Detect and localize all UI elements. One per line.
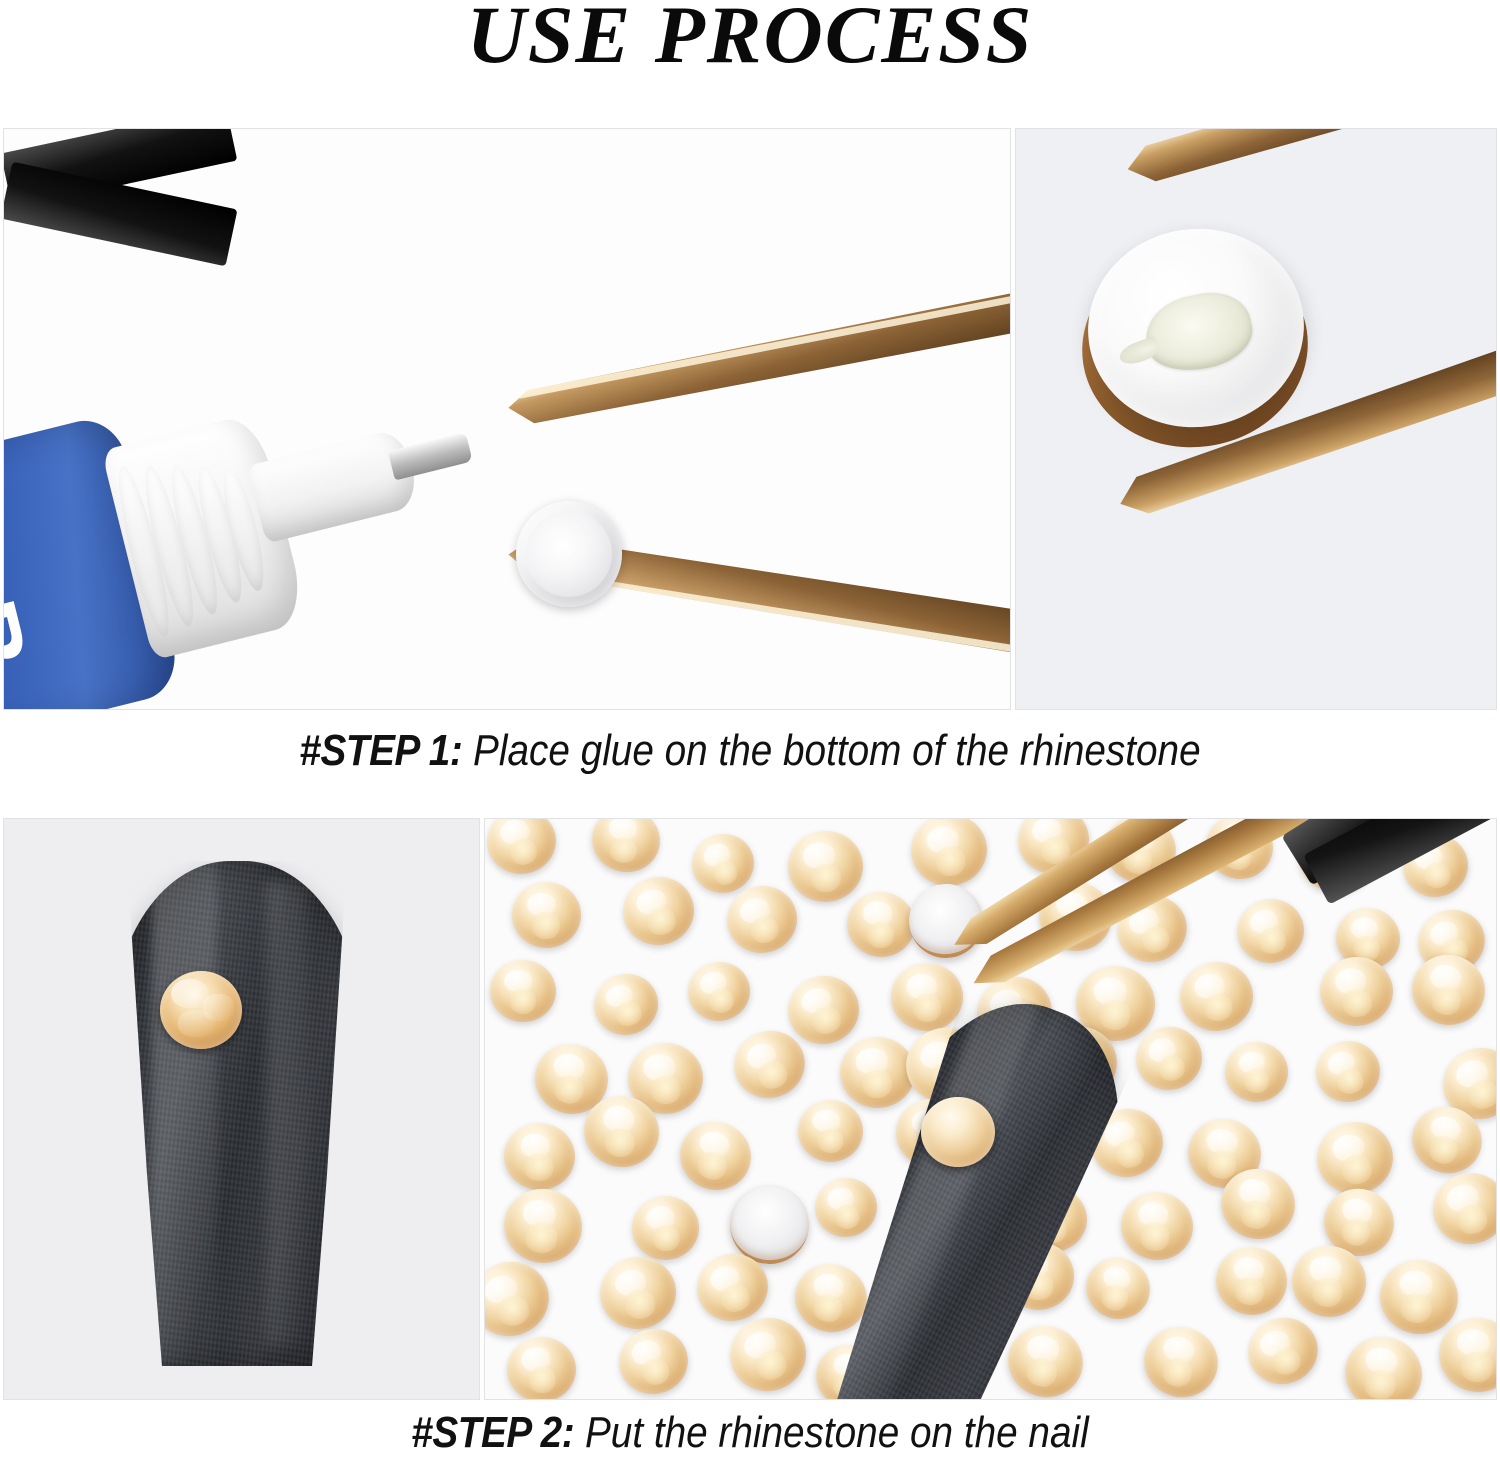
step-2-panel-finished-nail (3, 818, 480, 1400)
rhinestone-on-nail (160, 971, 242, 1049)
rhinestone (1211, 1242, 1293, 1321)
rhinestone (1176, 957, 1257, 1035)
tweezers-upper-arm (1122, 128, 1497, 190)
glue-cap-letter: B (3, 590, 49, 684)
rhinestone (683, 956, 756, 1026)
step-2-image-row (3, 818, 1497, 1400)
rhinestone (797, 1098, 865, 1163)
rhinestone (1336, 1327, 1431, 1400)
nail-highlight (267, 881, 307, 1346)
rhinestone (612, 1322, 694, 1400)
rhinestone (499, 1183, 588, 1269)
rhinestone (1232, 893, 1310, 969)
rhinestone (890, 963, 963, 1033)
step-2-label: #STEP 2: (411, 1408, 574, 1457)
rhinestone (671, 1113, 760, 1200)
rhinestone (785, 828, 865, 905)
rhinestone (587, 967, 664, 1042)
rhinestone (843, 888, 918, 960)
rhinestone (484, 818, 560, 879)
page-title: USE PROCESS (0, 0, 1500, 76)
glue-bottle-tip (247, 427, 422, 543)
rhinestone (586, 818, 665, 878)
rhinestone (1406, 948, 1492, 1031)
glue-bottle-metal-nozzle (388, 432, 473, 480)
step-1-text: Place glue on the bottom of the rhinesto… (462, 726, 1200, 775)
rhinestone (1225, 1041, 1289, 1102)
rhinestone-in-tweezers (506, 491, 632, 617)
step-2-text: Put the rhinestone on the nail (574, 1408, 1088, 1457)
rhinestone (484, 1251, 558, 1346)
rhinestone (1078, 1249, 1159, 1328)
glue-bottle: R B (3, 338, 481, 710)
rhinestone (1239, 1308, 1327, 1394)
step-1-panel-rhinestone-back-closeup (1015, 128, 1497, 710)
step-1-image-row: R B (3, 128, 1497, 710)
nail-texture (112, 861, 362, 1366)
rhinestone (489, 959, 555, 1022)
rhinestone (840, 1037, 916, 1109)
step-1-panel-glue-bottle-and-tweezers: R B (3, 128, 1011, 710)
rhinestone (594, 1250, 682, 1335)
rhinestone (1312, 1116, 1398, 1199)
rhinestone (811, 1174, 881, 1241)
glue-cap-letter: R (3, 469, 23, 563)
rhinestone (1436, 1315, 1497, 1396)
nail-highlight (152, 861, 217, 1366)
rhinestone (1116, 1187, 1196, 1264)
step-1-label: #STEP 1: (299, 726, 462, 775)
tweezers-upper-arm (505, 285, 1011, 431)
rhinestone (512, 882, 581, 947)
rhinestone (630, 1194, 701, 1262)
rhinestone (721, 1308, 815, 1400)
rhinestone (1427, 1167, 1497, 1250)
rhinestone (615, 869, 701, 953)
rhinestone (1310, 1034, 1387, 1108)
step-2-panel-applying-rhinestone (484, 818, 1497, 1400)
rhinestone (907, 818, 991, 891)
step-1-caption: #STEP 1: Place glue on the bottom of the… (90, 726, 1410, 776)
rhinestone (1136, 1318, 1226, 1400)
rhinestone-being-placed (921, 1097, 995, 1167)
rhinestone (505, 1335, 577, 1400)
press-on-nail (112, 861, 362, 1366)
rhinestone (1000, 1317, 1091, 1400)
step-2-caption: #STEP 2: Put the rhinestone on the nail (90, 1408, 1410, 1458)
rhinestone (502, 1121, 577, 1193)
